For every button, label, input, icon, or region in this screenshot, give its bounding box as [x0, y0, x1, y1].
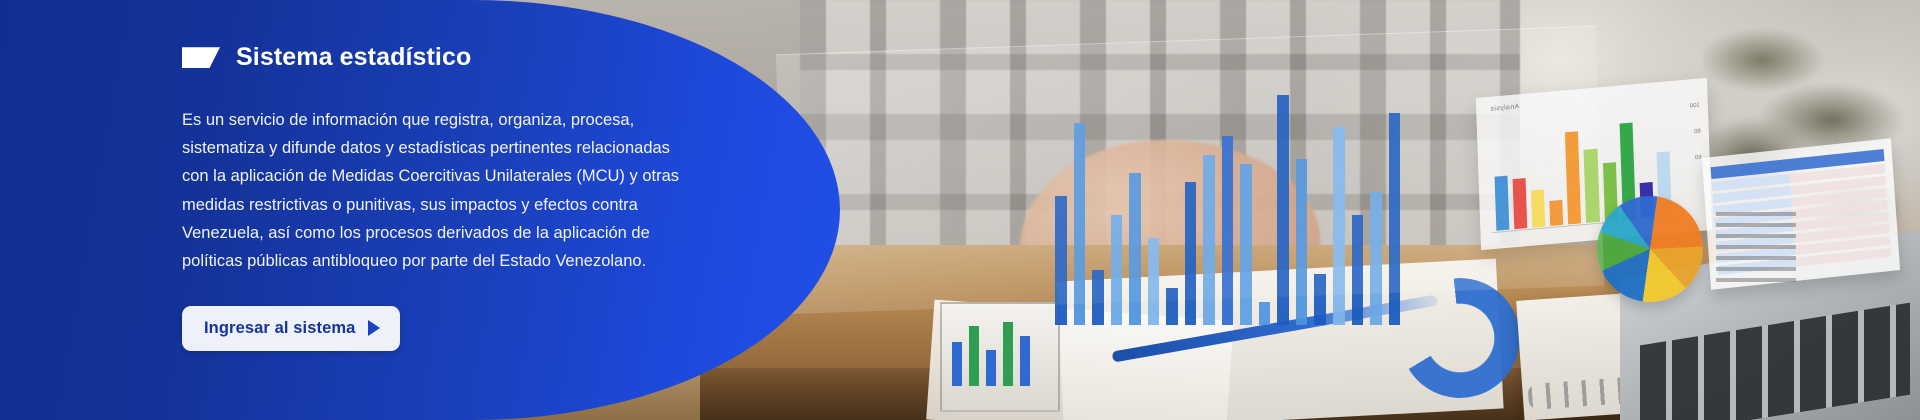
banner-description: Es un servicio de información que regist…	[182, 106, 682, 276]
bar	[1092, 270, 1104, 325]
bar	[1314, 274, 1326, 325]
bar	[1277, 95, 1289, 325]
bar	[986, 350, 996, 386]
bar	[1584, 149, 1600, 223]
bar	[1259, 302, 1271, 325]
tablet-mini-bar-chart	[952, 322, 1048, 386]
card-chart-title: Analysis	[1490, 103, 1519, 113]
play-triangle-icon	[368, 320, 380, 336]
bar	[1389, 113, 1401, 325]
bar	[1148, 238, 1160, 325]
bar	[969, 326, 979, 386]
bar	[1020, 336, 1030, 386]
bar	[1129, 173, 1141, 325]
banner-title-text: Sistema estadístico	[236, 44, 471, 72]
bar	[1352, 215, 1364, 325]
bar	[1185, 182, 1197, 325]
bar	[1222, 136, 1234, 325]
bar	[1370, 192, 1382, 325]
bar	[1550, 200, 1564, 226]
banner-content: Sistema estadístico Es un servicio de in…	[182, 0, 742, 420]
enter-system-button[interactable]: Ingresar al sistema	[182, 306, 400, 351]
card-chart-axis-labels: 100 80 60	[1689, 93, 1702, 172]
bar	[1074, 123, 1086, 325]
bar	[1495, 175, 1510, 230]
bar	[1296, 159, 1308, 325]
bar	[1531, 189, 1545, 228]
bar	[952, 342, 962, 386]
pie-chart-legend	[1716, 212, 1796, 289]
page-title: Sistema estadístico	[182, 44, 742, 72]
bar	[1055, 196, 1067, 325]
statistics-system-banner: Analysis 100 80 60	[0, 0, 1920, 420]
flag-parallelogram-icon	[182, 47, 220, 68]
bar	[1203, 155, 1215, 325]
bar	[1333, 127, 1345, 325]
bar	[1111, 215, 1123, 325]
bar	[1240, 164, 1252, 325]
bar	[1565, 132, 1581, 225]
overlay-blue-bar-chart	[1055, 95, 1400, 325]
bar	[1003, 322, 1013, 386]
bar	[1513, 178, 1528, 229]
enter-system-button-label: Ingresar al sistema	[204, 319, 355, 338]
bar	[1166, 288, 1178, 325]
